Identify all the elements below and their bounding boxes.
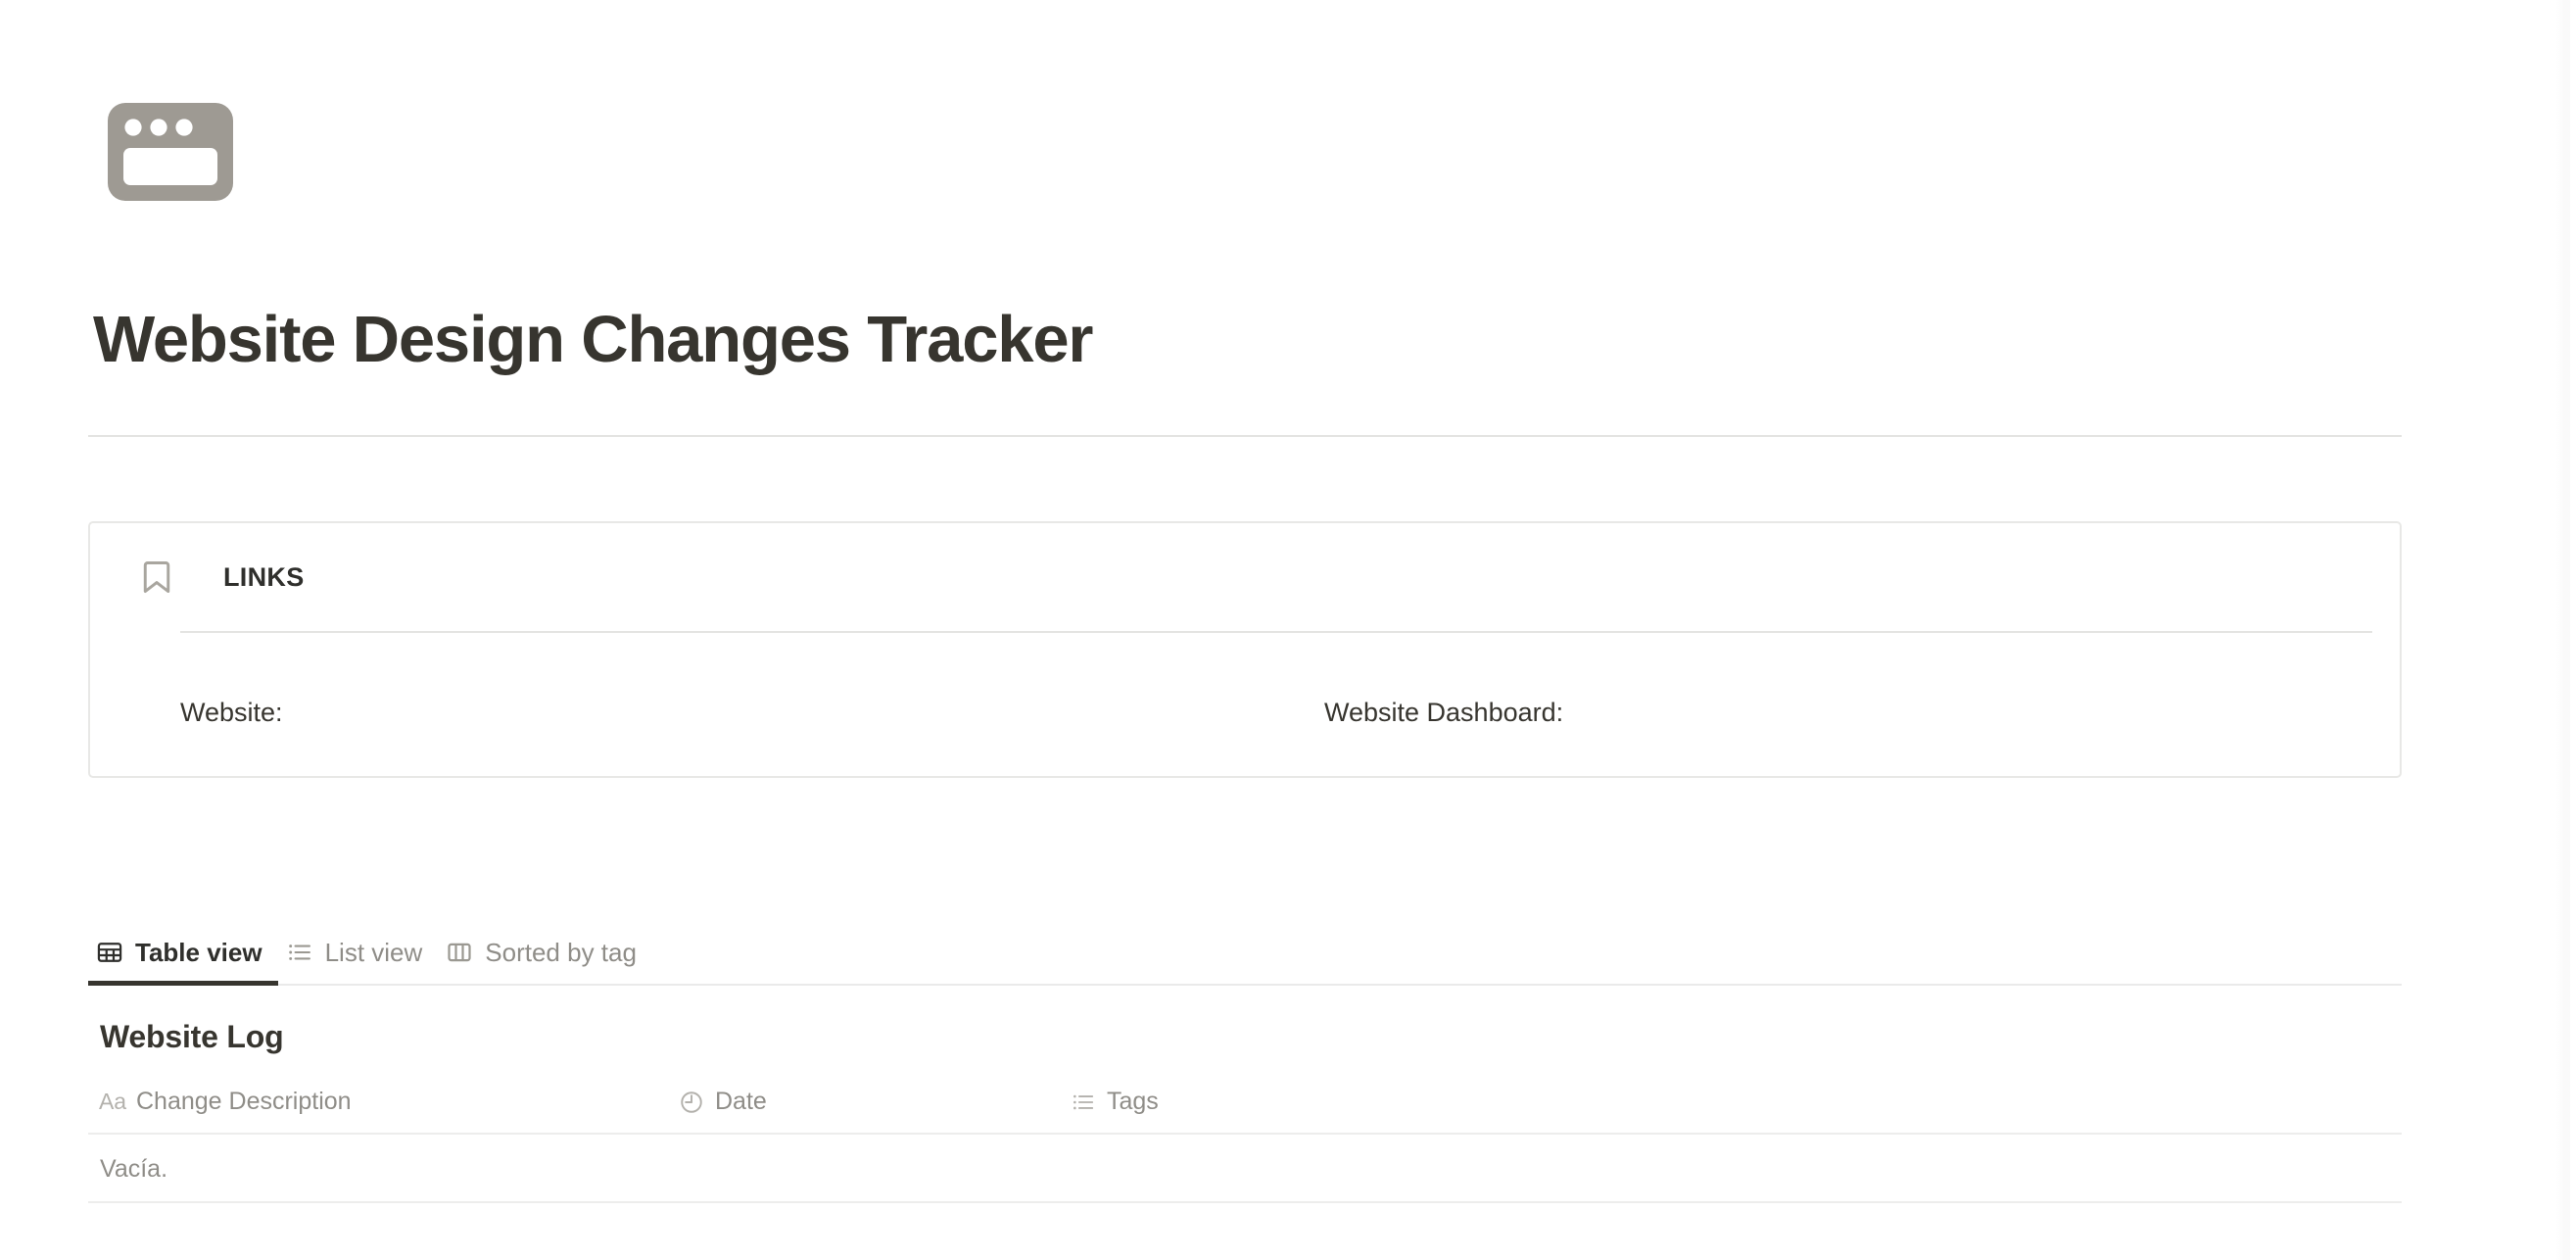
- column-label-change-description: Change Description: [136, 1088, 352, 1116]
- page-scrollbar[interactable]: [2556, 0, 2570, 1260]
- database-header-row: Aa Change Description Date: [88, 1084, 2402, 1135]
- table-grid-icon: [96, 939, 123, 966]
- list-icon: [286, 939, 313, 966]
- database-title[interactable]: Website Log: [100, 1019, 283, 1055]
- tab-label-list-view: List view: [325, 938, 423, 968]
- database-empty-text: Vacía.: [100, 1155, 167, 1184]
- tab-label-sorted-by-tag: Sorted by tag: [485, 938, 637, 968]
- bookmark-icon: [141, 560, 172, 594]
- browser-window-icon: [108, 103, 233, 201]
- page-icon[interactable]: [108, 103, 233, 201]
- column-label-tags: Tags: [1107, 1088, 1159, 1116]
- tab-sorted-by-tag[interactable]: Sorted by tag: [438, 919, 652, 986]
- tab-table-view[interactable]: Table view: [88, 919, 278, 986]
- links-card: LINKS Website: Website Dashboard:: [88, 521, 2402, 778]
- column-label-date: Date: [715, 1088, 767, 1116]
- link-label-website-dashboard[interactable]: Website Dashboard:: [1324, 698, 1563, 728]
- aa-text-icon: Aa: [100, 1090, 125, 1115]
- page-title[interactable]: Website Design Changes Tracker: [93, 306, 1092, 374]
- links-card-header: LINKS: [118, 560, 305, 594]
- database-empty-row[interactable]: Vacía.: [88, 1137, 2402, 1203]
- column-header-change-description[interactable]: Aa Change Description: [100, 1088, 352, 1116]
- column-header-date[interactable]: Date: [679, 1088, 767, 1116]
- title-divider: [88, 435, 2402, 437]
- tab-list-view[interactable]: List view: [278, 919, 439, 986]
- board-columns-icon: [446, 939, 473, 966]
- column-header-tags[interactable]: Tags: [1071, 1088, 1159, 1116]
- links-card-divider: [180, 631, 2372, 633]
- links-heading: LINKS: [223, 562, 305, 593]
- link-label-website[interactable]: Website:: [180, 698, 283, 728]
- tab-label-table-view: Table view: [135, 938, 262, 968]
- clock-icon: [679, 1090, 704, 1115]
- list-icon: [1071, 1090, 1096, 1115]
- links-row: Website: Website Dashboard:: [90, 698, 2400, 747]
- notion-page: Website Design Changes Tracker LINKS Web…: [0, 0, 2576, 1260]
- database-view-tabs: Table view List view: [88, 919, 2402, 986]
